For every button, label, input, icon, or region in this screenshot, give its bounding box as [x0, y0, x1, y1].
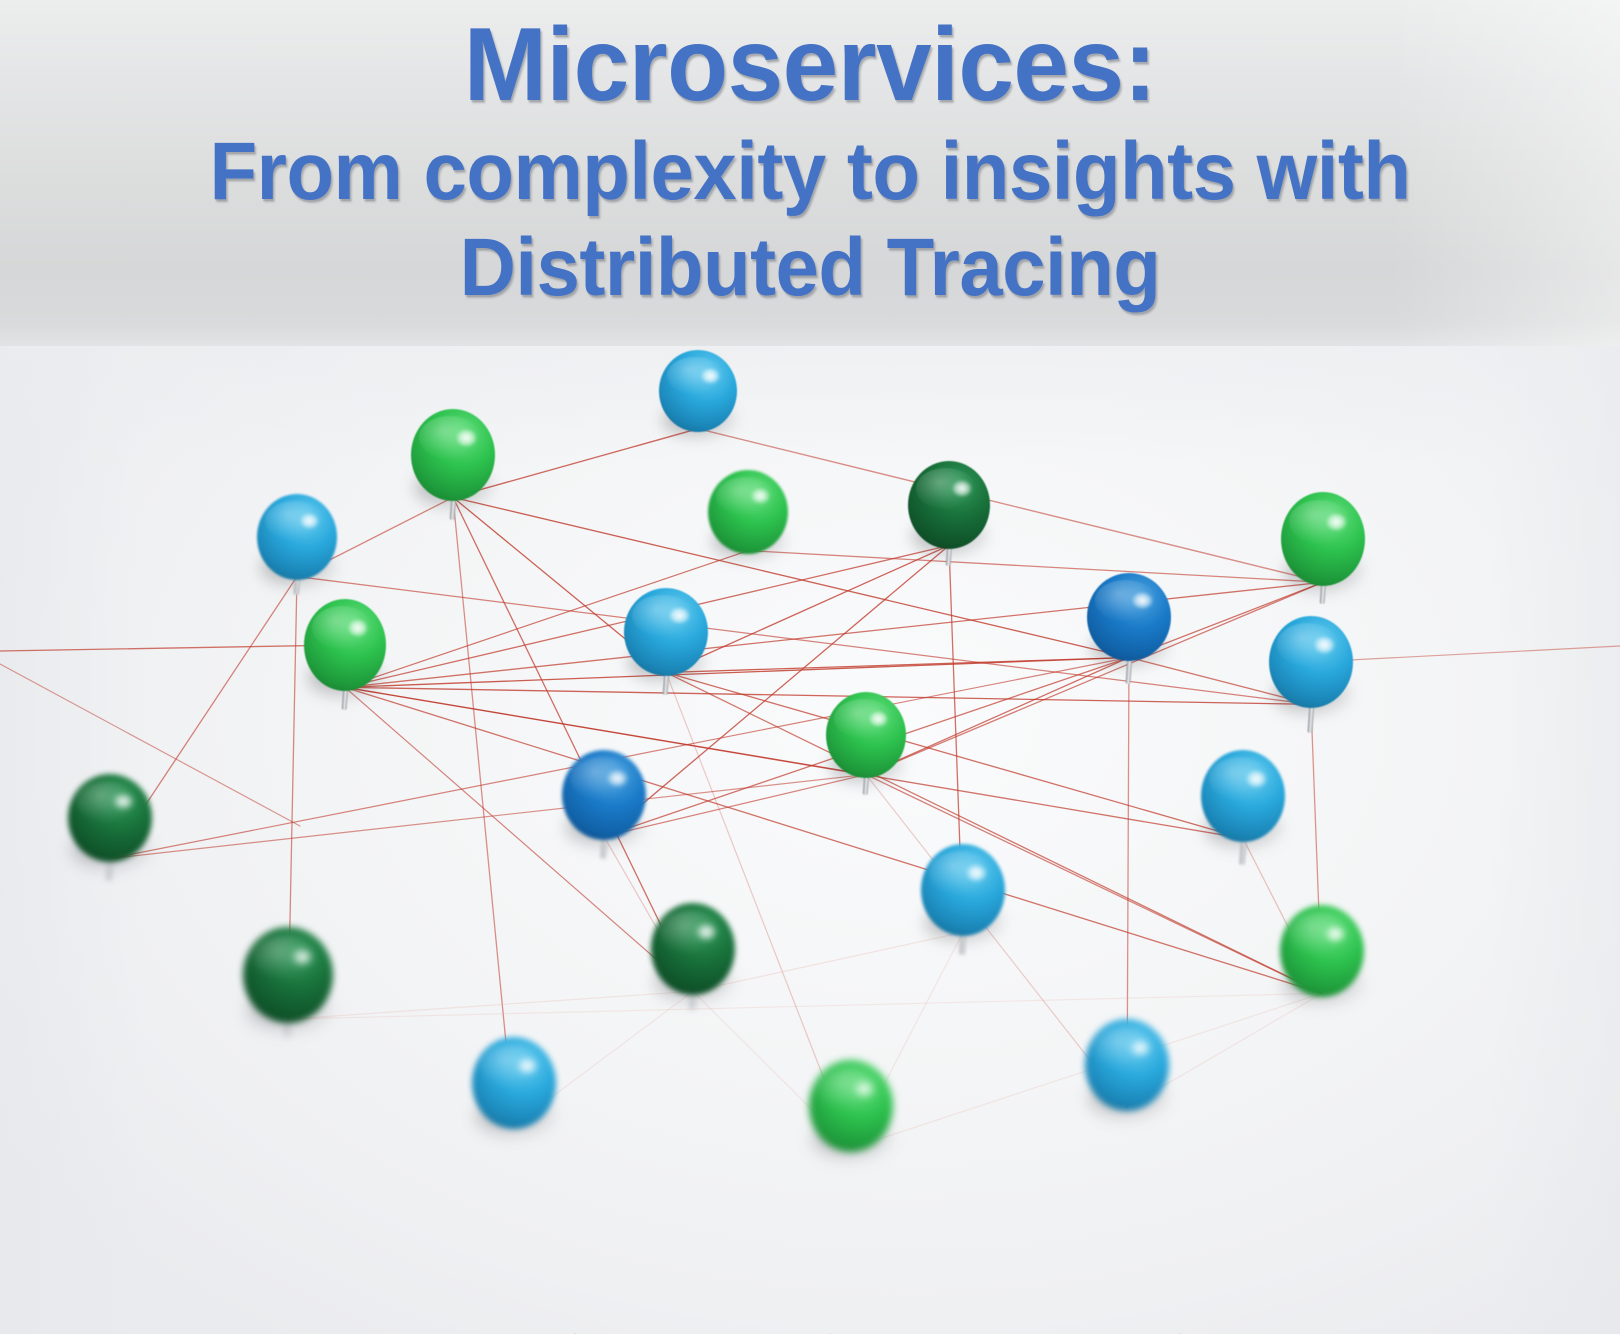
pin-p12-dark_green	[68, 774, 152, 862]
pin-head	[1087, 573, 1171, 661]
title-line-tertiary: Distributed Tracing	[41, 220, 1580, 316]
title-slide: Microservices: From complexity to insigh…	[0, 0, 1620, 1334]
pin-layer	[0, 346, 1620, 1334]
pin-p03-green	[708, 470, 788, 554]
pin-head	[472, 1037, 556, 1129]
pin-p05-green	[1281, 492, 1365, 586]
pin-p06-cyan	[257, 494, 337, 580]
pin-head	[624, 588, 708, 676]
pin-head	[68, 774, 152, 862]
pin-p13-blue	[562, 750, 646, 840]
pin-head	[809, 1060, 893, 1152]
pin-p04-dark_green	[908, 461, 990, 549]
slide-title: Microservices: From complexity to insigh…	[0, 6, 1620, 316]
pin-p11-green	[826, 692, 906, 778]
title-header-band: Microservices: From complexity to insigh…	[0, 0, 1620, 346]
title-line-primary: Microservices:	[32, 6, 1587, 124]
pin-head	[708, 470, 788, 554]
pin-p10-cyan	[1269, 616, 1353, 708]
network-pins-photo	[0, 346, 1620, 1334]
pin-p07-green	[304, 599, 386, 691]
pin-head	[1085, 1019, 1169, 1111]
pin-p19-cyan	[1085, 1019, 1169, 1111]
pin-head	[1201, 750, 1285, 842]
pin-p15-cyan	[921, 844, 1005, 936]
pin-p14-cyan	[1201, 750, 1285, 842]
pin-head	[1269, 616, 1353, 708]
pin-head	[304, 599, 386, 691]
pin-p20-cyan	[472, 1037, 556, 1129]
pin-head	[921, 844, 1005, 936]
pin-p01-cyan	[659, 350, 737, 432]
pin-p18-green	[1280, 905, 1364, 997]
pin-head	[257, 494, 337, 580]
pin-p09-blue	[1087, 573, 1171, 661]
pin-p02-green	[411, 409, 495, 501]
pin-p21-green	[809, 1060, 893, 1152]
pin-head	[411, 409, 495, 501]
pin-head	[243, 927, 333, 1023]
pin-head	[651, 903, 735, 995]
pin-head	[908, 461, 990, 549]
title-line-secondary: From complexity to insights with	[41, 124, 1580, 220]
pin-head	[826, 692, 906, 778]
pin-head	[1281, 492, 1365, 586]
pin-p16-dark_green	[651, 903, 735, 995]
pin-p17-dark_green	[243, 927, 333, 1023]
pin-head	[562, 750, 646, 840]
pin-p08-cyan	[624, 588, 708, 676]
pin-head	[1280, 905, 1364, 997]
pin-head	[659, 350, 737, 432]
